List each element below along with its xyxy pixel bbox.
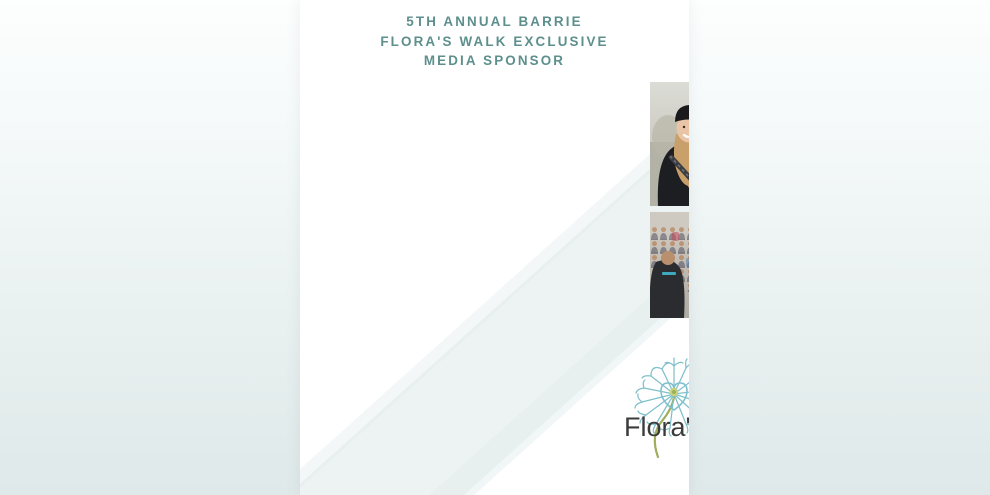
photo-collage: Hope is a walk Flora's Walk — [650, 82, 689, 318]
collage-top-row: Hope is a walk Flora's Walk — [650, 82, 689, 206]
collage-bottom-row: Flora's Walk Barrie, Ontario — [650, 212, 689, 318]
photo-group: Flora's Walk Barrie, Ontario — [650, 212, 689, 318]
photo-two-women — [650, 82, 689, 206]
headline-line-2: FLORA'S WALK EXCLUSIVE — [300, 32, 689, 52]
poster-card: 5TH ANNUAL BARRIE FLORA'S WALK EXCLUSIVE… — [300, 0, 689, 495]
headline-line-1: 5TH ANNUAL BARRIE — [300, 12, 689, 32]
headline-line-3: MEDIA SPONSOR — [300, 51, 689, 71]
wordmark-floras-walk: Flora's Walk — [624, 412, 689, 442]
screenshot-stage: 5TH ANNUAL BARRIE FLORA'S WALK EXCLUSIVE… — [0, 0, 990, 495]
dandelion-heart-icon — [635, 358, 689, 457]
poster-headline: 5TH ANNUAL BARRIE FLORA'S WALK EXCLUSIVE… — [300, 12, 689, 71]
